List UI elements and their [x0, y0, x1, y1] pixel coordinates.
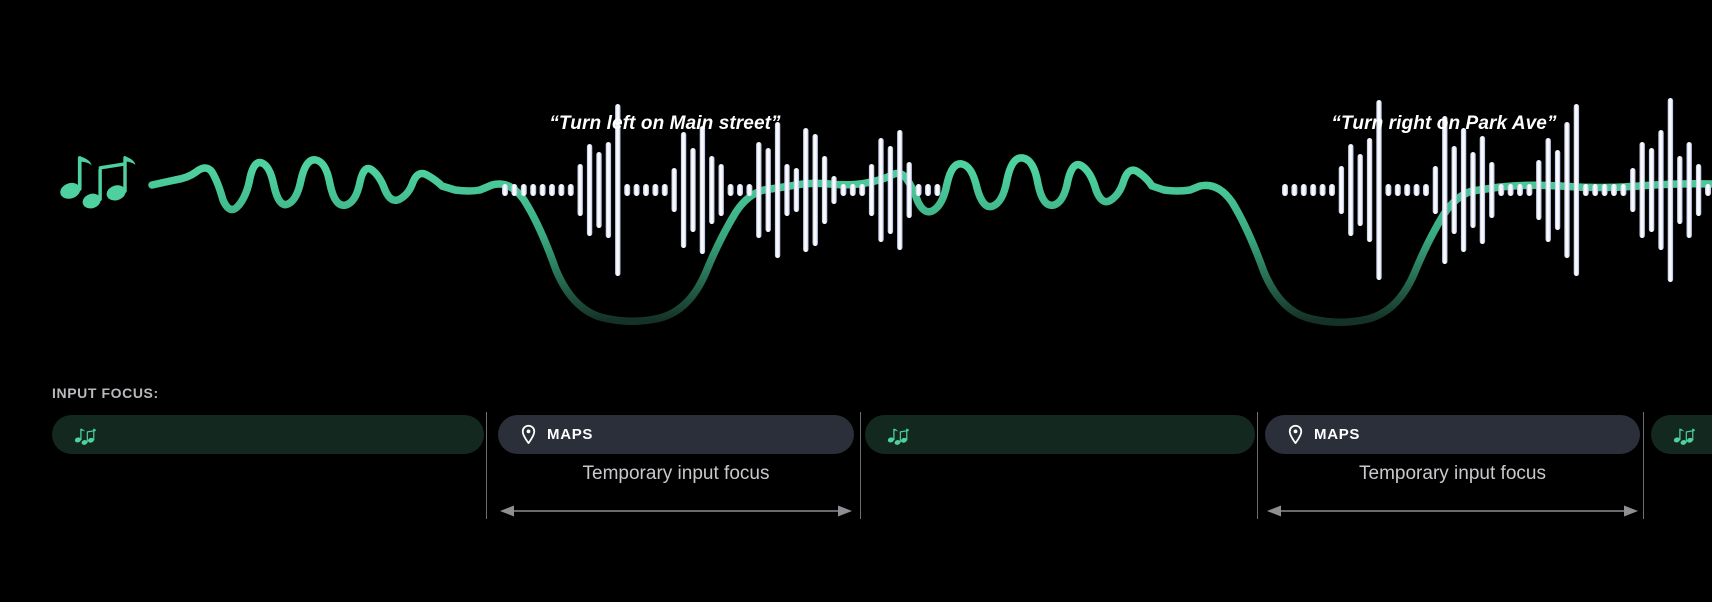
speech-bar — [1423, 184, 1429, 196]
speech-bar — [1640, 142, 1645, 238]
speech-bar — [1461, 128, 1466, 252]
speech-bar — [1574, 104, 1579, 276]
speech-bar — [1480, 136, 1485, 244]
speech-bar — [1291, 184, 1297, 196]
speech-bar — [756, 142, 761, 238]
speech-bar — [681, 132, 686, 248]
focus-segment-label: MAPS — [547, 426, 593, 443]
speech-bar — [813, 134, 818, 246]
music-note-icon — [1673, 425, 1695, 445]
speech-bar — [766, 148, 771, 232]
speech-bar — [1348, 144, 1353, 236]
transcript-quote-1: “Turn left on Main street” — [549, 113, 780, 135]
segment-boundary-guide — [486, 412, 487, 519]
speech-bar — [1546, 138, 1551, 242]
speech-bar — [662, 184, 668, 196]
speech-bar — [831, 176, 836, 204]
focus-segment-audio[interactable] — [52, 415, 484, 454]
speech-bar — [700, 126, 705, 254]
speech-bar — [587, 144, 592, 236]
speech-bar — [1320, 184, 1326, 196]
segment-boundary-guide — [1257, 412, 1258, 519]
audio-timeline-diagram: “Turn left on Main street” “Turn right o… — [0, 0, 1712, 602]
speech-bar — [840, 184, 846, 196]
speech-bar — [1658, 130, 1663, 250]
speech-bar — [737, 184, 743, 196]
speech-bar — [1489, 162, 1494, 218]
segment-boundary-guide — [1643, 412, 1644, 519]
speech-bar — [634, 184, 640, 196]
speech-bar — [606, 142, 611, 238]
speech-bar — [1611, 184, 1617, 196]
speech-bar — [643, 184, 649, 196]
speech-bar — [568, 184, 574, 196]
speech-bar — [719, 164, 724, 216]
double-headed-arrow-icon — [1265, 503, 1640, 519]
map-pin-icon — [520, 424, 537, 445]
speech-bar — [540, 184, 546, 196]
input-focus-track: MAPSTemporary input focusMAPSTemporary i… — [0, 415, 1712, 602]
speech-bar — [1696, 164, 1701, 216]
speech-bar — [1433, 166, 1438, 214]
temporary-focus-measure: Temporary input focus — [1265, 463, 1640, 519]
speech-bar — [690, 148, 695, 232]
speech-bar — [925, 184, 931, 196]
speech-bar — [1442, 116, 1447, 264]
speech-bar — [1668, 98, 1673, 282]
segment-boundary-guide — [860, 412, 861, 519]
speech-bar — [1282, 184, 1288, 196]
speech-bar — [907, 162, 912, 218]
speech-bar — [1526, 184, 1532, 196]
speech-bar — [578, 164, 583, 216]
speech-bar — [916, 184, 922, 196]
waveform-canvas — [0, 0, 1712, 360]
speech-bar — [1602, 184, 1608, 196]
speech-bar — [1536, 160, 1541, 220]
temporary-focus-measure: Temporary input focus — [498, 463, 854, 519]
transcript-quote-2: “Turn right on Park Ave” — [1331, 113, 1556, 135]
speech-bar — [672, 168, 677, 212]
speech-bar — [869, 164, 874, 216]
focus-segment-app-maps[interactable]: MAPS — [1265, 415, 1640, 454]
speech-bar — [1592, 184, 1598, 196]
speech-bar — [549, 184, 555, 196]
speech-bar — [784, 164, 789, 216]
speech-bar — [1329, 184, 1335, 196]
music-note-icon — [58, 156, 135, 211]
focus-segment-audio[interactable] — [1651, 415, 1712, 454]
speech-bar — [1620, 184, 1626, 196]
speech-bar — [1677, 156, 1682, 224]
speech-bar — [1301, 184, 1307, 196]
speech-bar — [1385, 184, 1391, 196]
speech-bar — [822, 156, 827, 224]
double-headed-arrow-icon — [498, 503, 854, 519]
focus-segment-label: MAPS — [1314, 426, 1360, 443]
speech-bar — [596, 152, 601, 228]
speech-bar — [1687, 142, 1692, 238]
speech-bar — [530, 184, 536, 196]
music-note-icon — [887, 425, 909, 445]
green-waveform-line — [152, 158, 1712, 322]
input-focus-label: INPUT FOCUS: — [52, 385, 159, 401]
speech-bar — [511, 184, 517, 196]
speech-bar — [728, 184, 734, 196]
music-note-icon — [74, 425, 96, 445]
speech-bar — [652, 184, 658, 196]
speech-bar — [794, 168, 799, 212]
speech-bar — [558, 184, 564, 196]
speech-bar — [1649, 148, 1654, 232]
speech-bar — [1564, 122, 1569, 258]
speech-bar — [624, 184, 630, 196]
speech-bar — [1339, 166, 1344, 214]
speech-bar — [1508, 184, 1514, 196]
speech-bar — [888, 146, 893, 234]
speech-bar — [1452, 146, 1457, 234]
speech-bar — [1630, 168, 1635, 212]
map-pin-icon — [1287, 424, 1304, 445]
temporary-focus-text: Temporary input focus — [1265, 463, 1640, 485]
speech-bar — [850, 184, 856, 196]
speech-bar — [1470, 152, 1475, 228]
speech-bar — [521, 184, 527, 196]
speech-bar — [1395, 184, 1401, 196]
focus-segment-app-maps[interactable]: MAPS — [498, 415, 854, 454]
speech-bar — [502, 184, 508, 196]
focus-segment-audio[interactable] — [865, 415, 1255, 454]
temporary-focus-text: Temporary input focus — [498, 463, 854, 485]
speech-bar — [803, 128, 808, 252]
speech-bar — [1583, 184, 1589, 196]
speech-bar — [878, 138, 883, 242]
speech-bar — [709, 156, 714, 224]
speech-bar — [1705, 184, 1711, 196]
speech-bar — [859, 184, 865, 196]
speech-bar — [1498, 184, 1504, 196]
speech-bar — [775, 122, 780, 258]
speech-bar — [1517, 184, 1523, 196]
speech-bar — [1358, 154, 1363, 226]
speech-bar — [897, 130, 902, 250]
speech-bar — [746, 184, 752, 196]
speech-bar — [1367, 138, 1372, 242]
speech-bar — [1555, 150, 1560, 230]
speech-bar — [1414, 184, 1420, 196]
speech-bar — [934, 184, 940, 196]
speech-bar — [1404, 184, 1410, 196]
speech-bar — [1310, 184, 1316, 196]
